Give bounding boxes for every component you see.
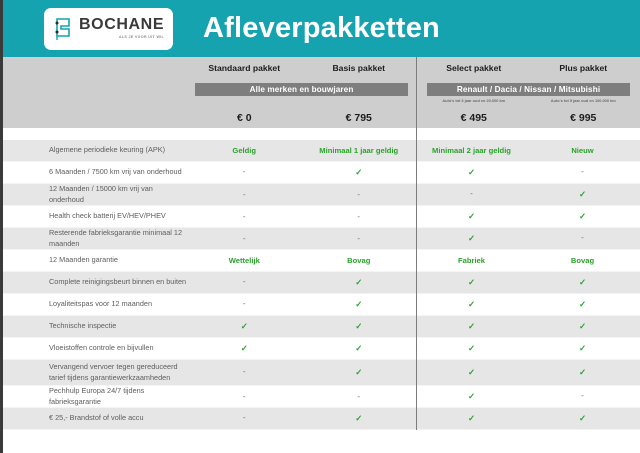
group-column-names: Standaard pakket Basis pakket (187, 63, 416, 80)
table-cell: - (416, 189, 527, 200)
package-group-brand: Select pakket Plus pakket Renault / Daci… (419, 57, 638, 128)
row-cells-standard: -- (187, 212, 416, 221)
table-row: Loyaliteitspas voor 12 maanden-✓✓✓ (3, 294, 640, 316)
table-cell: ✓ (527, 413, 638, 424)
group-badge-standard: Alle merken en bouwjaren (195, 83, 408, 96)
table-cell: - (187, 212, 302, 221)
table-cell: - (187, 167, 302, 178)
table-cell: ✓ (416, 321, 527, 332)
package-group-standard: Standaard pakket Basis pakket Alle merke… (187, 57, 416, 128)
table-cell: ✓ (302, 277, 417, 288)
row-cells-brand: ✓- (416, 391, 640, 402)
group-notes-brand: Auto's tot 3 jaar oud en 20.000 km Auto'… (419, 98, 638, 109)
table-cell: - (187, 234, 302, 243)
footer-blank-area (3, 430, 640, 453)
row-cells-standard: -- (187, 234, 416, 243)
table-row: Complete reinigingsbeurt binnen en buite… (3, 272, 640, 294)
table-row: € 25,- Brandstof of volle accu-✓✓✓ (3, 408, 640, 430)
column-note-plus: Auto's tot 5 jaar oud en 100.000 km (529, 98, 639, 109)
row-cells-brand: ✓- (416, 167, 640, 178)
table-cell: Minimaal 1 jaar geldig (302, 146, 417, 155)
table-cell: - (187, 299, 302, 310)
group-prices-brand: € 495 € 995 (419, 109, 638, 127)
row-cells-brand: ✓✓ (416, 367, 640, 378)
table-cell: - (302, 392, 417, 401)
table-cell: ✓ (527, 343, 638, 354)
table-cell: - (187, 190, 302, 199)
row-label: Resterende fabrieksgarantie minimaal 12 … (3, 228, 187, 248)
table-row: 6 Maanden / 7500 km vrij van onderhoud-✓… (3, 162, 640, 184)
table-row: 12 Maanden garantieWettelijkBovagFabriek… (3, 250, 640, 272)
table-cell: Fabriek (416, 256, 527, 265)
table-cell: ✓ (416, 167, 527, 178)
header-row-spacer (3, 128, 640, 140)
table-cell: ✓ (527, 277, 638, 288)
row-cells-brand: ✓✓ (416, 211, 640, 222)
logo-text: BOCHANE ALS JE VOOR UIT WIL (79, 17, 164, 40)
table-cell: - (527, 391, 638, 402)
row-label: 12 Maanden / 15000 km vrij van onderhoud (3, 184, 187, 204)
logo[interactable]: BOCHANE ALS JE VOOR UIT WIL (44, 8, 173, 50)
row-cells-standard: -✓ (187, 367, 416, 378)
table-cell: - (187, 413, 302, 424)
table-row: Health check batterij EV/HEV/PHEV--✓✓ (3, 206, 640, 228)
row-cells-brand: ✓✓ (416, 299, 640, 310)
table-cell: ✓ (302, 367, 417, 378)
table-row: Resterende fabrieksgarantie minimaal 12 … (3, 228, 640, 250)
table-cell: - (527, 233, 638, 244)
table-cell: ✓ (416, 277, 527, 288)
row-cells-standard: ✓✓ (187, 321, 416, 332)
table-cell: ✓ (302, 413, 417, 424)
row-cells-brand: Minimaal 2 jaar geldigNieuw (416, 146, 640, 155)
table-cell: ✓ (302, 167, 417, 178)
row-cells-standard: -- (187, 392, 416, 401)
table-row: Technische inspectie✓✓✓✓ (3, 316, 640, 338)
row-label: Vloeistoffen controle en bijvullen (3, 343, 187, 353)
row-label: 12 Maanden garantie (3, 255, 187, 265)
table-cell: Geldig (187, 146, 302, 155)
row-cells-standard: -✓ (187, 299, 416, 310)
table-cell: ✓ (527, 211, 638, 222)
price-standaard: € 0 (187, 112, 302, 124)
table-cell: Bovag (302, 256, 417, 265)
table-row: Pechhulp Europa 24/7 tijdens fabrieksgar… (3, 386, 640, 408)
table-cell: Minimaal 2 jaar geldig (416, 146, 527, 155)
row-cells-brand: ✓✓ (416, 413, 640, 424)
page-header: BOCHANE ALS JE VOOR UIT WIL Afleverpakke… (3, 0, 640, 57)
row-label: Vervangend vervoer tegen gereduceerd tar… (3, 362, 187, 382)
table-cell: - (187, 392, 302, 401)
column-name-basis: Basis pakket (302, 63, 417, 80)
table-cell: - (302, 234, 417, 243)
column-name-standaard: Standaard pakket (187, 63, 302, 80)
row-cells-brand: ✓✓ (416, 343, 640, 354)
group-column-names: Select pakket Plus pakket (419, 63, 638, 80)
row-cells-standard: -✓ (187, 277, 416, 288)
row-cells-brand: ✓- (416, 233, 640, 244)
group-divider (416, 57, 417, 446)
table-cell: ✓ (187, 321, 302, 332)
table-cell: - (302, 212, 417, 221)
price-select: € 495 (419, 112, 529, 124)
table-cell: Nieuw (527, 146, 638, 155)
row-cells-brand: FabriekBovag (416, 256, 640, 265)
table-cell: Bovag (527, 256, 638, 265)
row-label: Technische inspectie (3, 321, 187, 331)
table-cell: ✓ (302, 299, 417, 310)
table-cell: ✓ (416, 299, 527, 310)
row-label: Algemene periodieke keuring (APK) (3, 145, 187, 155)
table-row: Algemene periodieke keuring (APK)GeldigM… (3, 140, 640, 162)
table-row: Vervangend vervoer tegen gereduceerd tar… (3, 360, 640, 386)
afleverpakketten-comparison-page: BOCHANE ALS JE VOOR UIT WIL Afleverpakke… (0, 0, 640, 453)
row-label: € 25,- Brandstof of volle accu (3, 413, 187, 423)
row-label: 6 Maanden / 7500 km vrij van onderhoud (3, 167, 187, 177)
group-prices-standard: € 0 € 795 (187, 109, 416, 127)
table-row: Vloeistoffen controle en bijvullen✓✓✓✓ (3, 338, 640, 360)
column-header-band: Totaalprijs Standaard pakket Basis pakke… (3, 57, 640, 128)
bochane-logo-icon (52, 15, 74, 43)
column-note-select: Auto's tot 3 jaar oud en 20.000 km (419, 98, 529, 109)
row-cells-standard: -- (187, 190, 416, 199)
table-cell: ✓ (187, 343, 302, 354)
table-cell: ✓ (416, 413, 527, 424)
column-name-plus: Plus pakket (529, 63, 639, 80)
price-plus: € 995 (529, 112, 639, 124)
row-cells-standard: -✓ (187, 413, 416, 424)
table-cell: ✓ (527, 367, 638, 378)
row-label: Complete reinigingsbeurt binnen en buite… (3, 277, 187, 287)
table-cell: ✓ (416, 391, 527, 402)
table-cell: Wettelijk (187, 256, 302, 265)
row-cells-standard: WettelijkBovag (187, 256, 416, 265)
price-basis: € 795 (302, 112, 417, 124)
logo-tagline: ALS JE VOOR UIT WIL (119, 36, 164, 40)
feature-rows: Algemene periodieke keuring (APK)GeldigM… (3, 140, 640, 430)
group-badge-brand: Renault / Dacia / Nissan / Mitsubishi (427, 83, 630, 96)
table-cell: ✓ (527, 299, 638, 310)
table-cell: ✓ (527, 189, 638, 200)
logo-wordmark: BOCHANE (79, 17, 164, 33)
table-cell: - (187, 367, 302, 378)
table-cell: ✓ (416, 211, 527, 222)
table-cell: ✓ (416, 343, 527, 354)
table-cell: - (302, 190, 417, 199)
row-cells-standard: ✓✓ (187, 343, 416, 354)
row-label: Pechhulp Europa 24/7 tijdens fabrieksgar… (3, 386, 187, 406)
table-cell: - (527, 167, 638, 178)
row-label: Loyaliteitspas voor 12 maanden (3, 299, 187, 309)
row-cells-brand: ✓✓ (416, 321, 640, 332)
table-cell: - (187, 277, 302, 288)
row-cells-brand: -✓ (416, 189, 640, 200)
row-cells-brand: ✓✓ (416, 277, 640, 288)
table-cell: ✓ (302, 343, 417, 354)
column-name-select: Select pakket (419, 63, 529, 80)
row-label: Health check batterij EV/HEV/PHEV (3, 211, 187, 221)
table-cell: ✓ (302, 321, 417, 332)
table-row: 12 Maanden / 15000 km vrij van onderhoud… (3, 184, 640, 206)
row-cells-standard: GeldigMinimaal 1 jaar geldig (187, 146, 416, 155)
table-cell: ✓ (527, 321, 638, 332)
table-cell: ✓ (416, 367, 527, 378)
row-cells-standard: -✓ (187, 167, 416, 178)
table-cell: ✓ (416, 233, 527, 244)
